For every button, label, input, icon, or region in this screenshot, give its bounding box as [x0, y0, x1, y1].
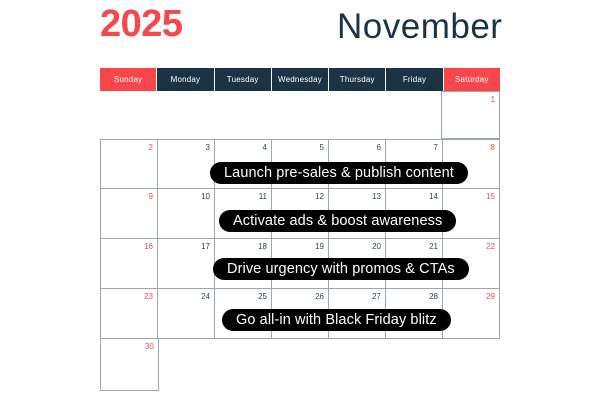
calendar-week-row: 30: [100, 339, 500, 391]
day-cell-1[interactable]: 1: [441, 91, 500, 139]
day-cell-empty: [384, 91, 441, 139]
day-cell-16[interactable]: 16: [100, 239, 158, 289]
day-cell-30[interactable]: 30: [100, 339, 159, 391]
month-title: November: [337, 6, 502, 48]
event-pill-week1[interactable]: Launch pre-sales & publish content: [210, 162, 468, 184]
weekday-header-row: Sunday Monday Tuesday Wednesday Thursday…: [100, 68, 500, 91]
day-number: 24: [201, 292, 210, 302]
calendar-header: 2025 November: [0, 0, 600, 60]
day-cell-3[interactable]: 3: [158, 139, 215, 189]
day-number: 17: [201, 242, 210, 252]
day-number: 14: [429, 192, 438, 202]
day-cell-empty: [214, 91, 271, 139]
day-cell-empty: [386, 339, 443, 391]
day-cell-empty: [100, 91, 157, 139]
day-number: 1: [491, 95, 495, 105]
day-number: 9: [149, 192, 153, 202]
day-cell-empty: [271, 91, 328, 139]
weekday-header-monday: Monday: [157, 68, 214, 91]
event-pill-week4[interactable]: Go all-in with Black Friday blitz: [222, 309, 451, 331]
day-number: 27: [372, 292, 381, 302]
day-number: 20: [372, 242, 381, 252]
day-cell-empty: [273, 339, 330, 391]
day-number: 13: [372, 192, 381, 202]
day-cell-24[interactable]: 24: [158, 289, 215, 339]
calendar-week-row: 1: [100, 91, 500, 139]
day-number: 26: [315, 292, 324, 302]
weekday-header-tuesday: Tuesday: [215, 68, 272, 91]
day-number: 16: [144, 242, 153, 252]
calendar-grid: 1 2 3 4 5 6 7 8 9 10 11 12 13 14 15 16 1…: [100, 91, 500, 391]
day-number: 4: [263, 143, 267, 153]
day-number: 29: [486, 292, 495, 302]
day-number: 22: [486, 242, 495, 252]
day-cell-empty: [327, 91, 384, 139]
day-cell-9[interactable]: 9: [100, 189, 158, 239]
day-cell-empty: [443, 339, 500, 391]
day-number: 30: [145, 342, 154, 352]
weekday-header-sunday: Sunday: [100, 68, 157, 91]
day-number: 5: [320, 143, 324, 153]
day-cell-23[interactable]: 23: [100, 289, 158, 339]
year-title: 2025: [100, 2, 183, 46]
day-number: 19: [315, 242, 324, 252]
weekday-header-wednesday: Wednesday: [272, 68, 329, 91]
day-number: 25: [258, 292, 267, 302]
day-number: 23: [144, 292, 153, 302]
day-cell-2[interactable]: 2: [100, 139, 158, 189]
event-pill-week2[interactable]: Activate ads & boost awareness: [219, 210, 456, 232]
day-cell-17[interactable]: 17: [158, 239, 215, 289]
weekday-header-thursday: Thursday: [329, 68, 386, 91]
day-number: 6: [377, 143, 381, 153]
day-cell-10[interactable]: 10: [158, 189, 215, 239]
day-number: 28: [429, 292, 438, 302]
event-pill-week3[interactable]: Drive urgency with promos & CTAs: [213, 258, 469, 280]
day-number: 21: [429, 242, 438, 252]
day-number: 2: [149, 143, 153, 153]
weekday-header-friday: Friday: [386, 68, 443, 91]
weekday-header-saturday: Saturday: [444, 68, 500, 91]
day-number: 10: [201, 192, 210, 202]
day-number: 8: [491, 143, 495, 153]
day-number: 11: [259, 192, 267, 202]
day-cell-empty: [157, 91, 214, 139]
day-number: 3: [206, 143, 210, 153]
day-cell-empty: [216, 339, 273, 391]
day-cell-29[interactable]: 29: [443, 289, 500, 339]
day-number: 15: [486, 192, 495, 202]
day-number: 12: [315, 192, 324, 202]
day-cell-empty: [159, 339, 216, 391]
day-number: 18: [258, 242, 267, 252]
day-cell-empty: [329, 339, 386, 391]
day-number: 7: [434, 143, 438, 153]
